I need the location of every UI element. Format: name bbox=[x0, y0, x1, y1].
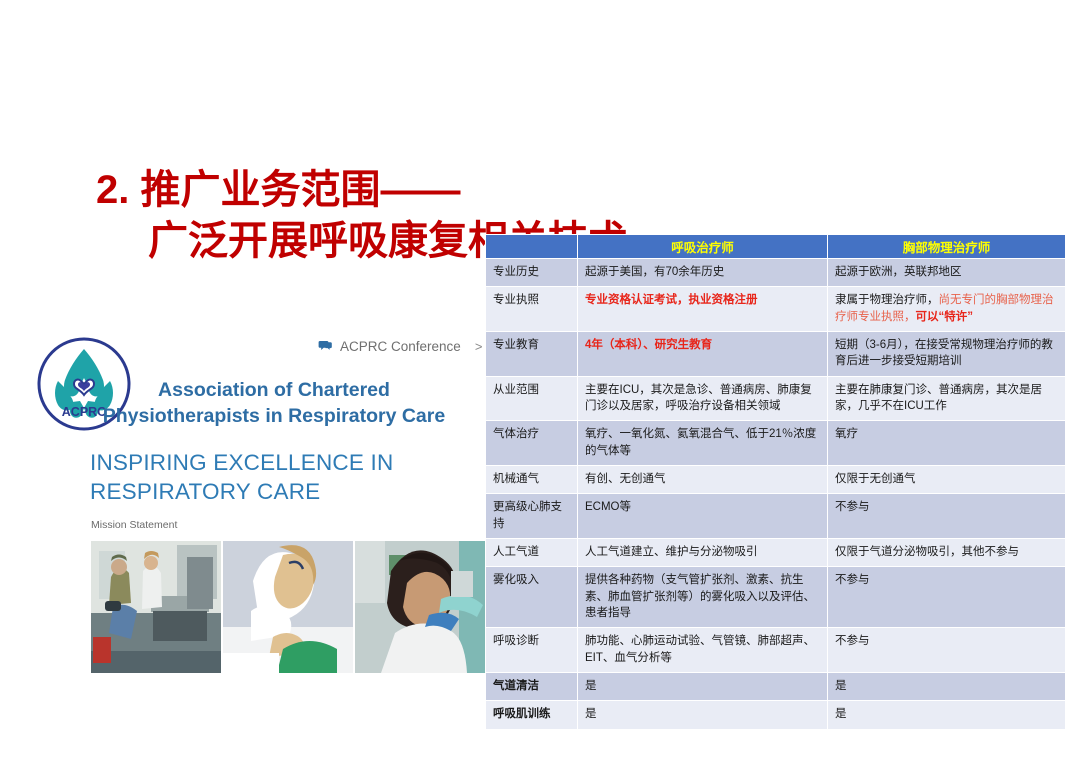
cell-respiratory-therapist: 人工气道建立、维护与分泌物吸引 bbox=[578, 538, 828, 566]
flag-icon bbox=[318, 340, 333, 353]
mission-statement-label: Mission Statement bbox=[91, 519, 177, 531]
tagline: INSPIRING EXCELLENCE IN RESPIRATORY CARE bbox=[90, 448, 480, 507]
row-label: 呼吸肌训练 bbox=[486, 701, 578, 729]
comparison-table: 呼吸治疗师 胸部物理治疗师 专业历史起源于美国，有70余年历史起源于欧洲，英联邦… bbox=[485, 234, 1066, 730]
table-header-row: 呼吸治疗师 胸部物理治疗师 bbox=[486, 235, 1066, 259]
row-label: 专业历史 bbox=[486, 259, 578, 287]
table-row: 专业历史起源于美国，有70余年历史起源于欧洲，英联邦地区 bbox=[486, 259, 1066, 287]
cell-chest-physiotherapist: 隶属于物理治疗师，尚无专门的胸部物理治疗师专业执照，可以“特许” bbox=[828, 287, 1066, 332]
table-row: 专业教育4年（本科）、研究生教育短期（3-6月），在接受常规物理治疗师的教育后进… bbox=[486, 331, 1066, 376]
table-body: 专业历史起源于美国，有70余年历史起源于欧洲，英联邦地区专业执照专业资格认证考试… bbox=[486, 259, 1066, 730]
row-label: 从业范围 bbox=[486, 376, 578, 421]
cell-chest-physiotherapist: 起源于欧洲，英联邦地区 bbox=[828, 259, 1066, 287]
acprc-website-screenshot: ACPRC ACPRC Conference > Association of … bbox=[22, 330, 486, 680]
photo-strip bbox=[91, 541, 486, 673]
acprc-conference-link[interactable]: ACPRC Conference > bbox=[318, 339, 482, 354]
row-label: 更高级心肺支持 bbox=[486, 494, 578, 539]
row-label: 呼吸诊断 bbox=[486, 628, 578, 673]
slide-canvas: 2. 推广业务范围—— 广泛开展呼吸康复相关技术 ACPRC bbox=[0, 0, 1080, 764]
chevron-right-icon: > bbox=[475, 339, 483, 354]
cell-chest-physiotherapist: 仅限于无创通气 bbox=[828, 465, 1066, 493]
table-row: 专业执照专业资格认证考试，执业资格注册隶属于物理治疗师，尚无专门的胸部物理治疗师… bbox=[486, 287, 1066, 332]
title-line-1: 2. 推广业务范围—— bbox=[96, 168, 460, 212]
cell-chest-physiotherapist: 氧疗 bbox=[828, 421, 1066, 466]
table-header-blank bbox=[486, 235, 578, 259]
row-label: 专业教育 bbox=[486, 331, 578, 376]
row-label: 人工气道 bbox=[486, 538, 578, 566]
table-row: 气道清洁是是 bbox=[486, 672, 1066, 700]
cell-chest-physiotherapist: 主要在肺康复门诊、普通病房，其次是居家，几乎不在ICU工作 bbox=[828, 376, 1066, 421]
table-row: 雾化吸入提供各种药物（支气管扩张剂、激素、抗生素、肺血管扩张剂等）的雾化吸入以及… bbox=[486, 567, 1066, 628]
cell-respiratory-therapist: 是 bbox=[578, 672, 828, 700]
table-header-cpt: 胸部物理治疗师 bbox=[828, 235, 1066, 259]
row-label: 气体治疗 bbox=[486, 421, 578, 466]
table-row: 从业范围主要在ICU，其次是急诊、普通病房、肺康复门诊以及居家，呼吸治疗设备相关… bbox=[486, 376, 1066, 421]
table-row: 呼吸诊断肺功能、心肺运动试验、气管镜、肺部超声、EIT、血气分析等不参与 bbox=[486, 628, 1066, 673]
cell-chest-physiotherapist: 不参与 bbox=[828, 567, 1066, 628]
row-label: 雾化吸入 bbox=[486, 567, 578, 628]
cell-chest-physiotherapist: 是 bbox=[828, 701, 1066, 729]
cell-respiratory-therapist: 提供各种药物（支气管扩张剂、激素、抗生素、肺血管扩张剂等）的雾化吸入以及评估、患… bbox=[578, 567, 828, 628]
table-row: 气体治疗氧疗、一氧化氮、氦氧混合气、低于21％浓度的气体等氧疗 bbox=[486, 421, 1066, 466]
photo-nebuliser bbox=[355, 541, 486, 673]
row-label: 机械通气 bbox=[486, 465, 578, 493]
cell-chest-physiotherapist: 仅限于气道分泌物吸引，其他不参与 bbox=[828, 538, 1066, 566]
cell-respiratory-therapist: 专业资格认证考试，执业资格注册 bbox=[578, 287, 828, 332]
tagline-line-1: INSPIRING EXCELLENCE IN bbox=[90, 448, 480, 477]
table-row: 更高级心肺支持ECMO等不参与 bbox=[486, 494, 1066, 539]
table-row: 呼吸肌训练是是 bbox=[486, 701, 1066, 729]
association-name-line-2: Physiotherapists in Respiratory Care bbox=[62, 404, 486, 430]
cell-chest-physiotherapist: 不参与 bbox=[828, 494, 1066, 539]
cell-chest-physiotherapist: 是 bbox=[828, 672, 1066, 700]
cell-chest-physiotherapist: 短期（3-6月），在接受常规物理治疗师的教育后进一步接受短期培训 bbox=[828, 331, 1066, 376]
cell-respiratory-therapist: 肺功能、心肺运动试验、气管镜、肺部超声、EIT、血气分析等 bbox=[578, 628, 828, 673]
cell-respiratory-therapist: 起源于美国，有70余年历史 bbox=[578, 259, 828, 287]
cell-respiratory-therapist: 是 bbox=[578, 701, 828, 729]
row-label: 专业执照 bbox=[486, 287, 578, 332]
cell-respiratory-therapist: ECMO等 bbox=[578, 494, 828, 539]
table-row: 人工气道人工气道建立、维护与分泌物吸引仅限于气道分泌物吸引，其他不参与 bbox=[486, 538, 1066, 566]
cell-chest-physiotherapist: 不参与 bbox=[828, 628, 1066, 673]
table-row: 机械通气有创、无创通气仅限于无创通气 bbox=[486, 465, 1066, 493]
table-header-rt: 呼吸治疗师 bbox=[578, 235, 828, 259]
cell-respiratory-therapist: 主要在ICU，其次是急诊、普通病房、肺康复门诊以及居家，呼吸治疗设备相关领域 bbox=[578, 376, 828, 421]
tagline-line-2: RESPIRATORY CARE bbox=[90, 477, 480, 506]
photo-bedside-treatment bbox=[223, 541, 353, 673]
photo-gym-rehab bbox=[91, 541, 221, 673]
association-name: Association of Chartered Physiotherapist… bbox=[62, 378, 486, 430]
association-name-line-1: Association of Chartered bbox=[62, 378, 486, 404]
cell-respiratory-therapist: 4年（本科）、研究生教育 bbox=[578, 331, 828, 376]
acprc-conference-label: ACPRC Conference bbox=[340, 339, 461, 354]
cell-respiratory-therapist: 氧疗、一氧化氮、氦氧混合气、低于21％浓度的气体等 bbox=[578, 421, 828, 466]
row-label: 气道清洁 bbox=[486, 672, 578, 700]
cell-respiratory-therapist: 有创、无创通气 bbox=[578, 465, 828, 493]
